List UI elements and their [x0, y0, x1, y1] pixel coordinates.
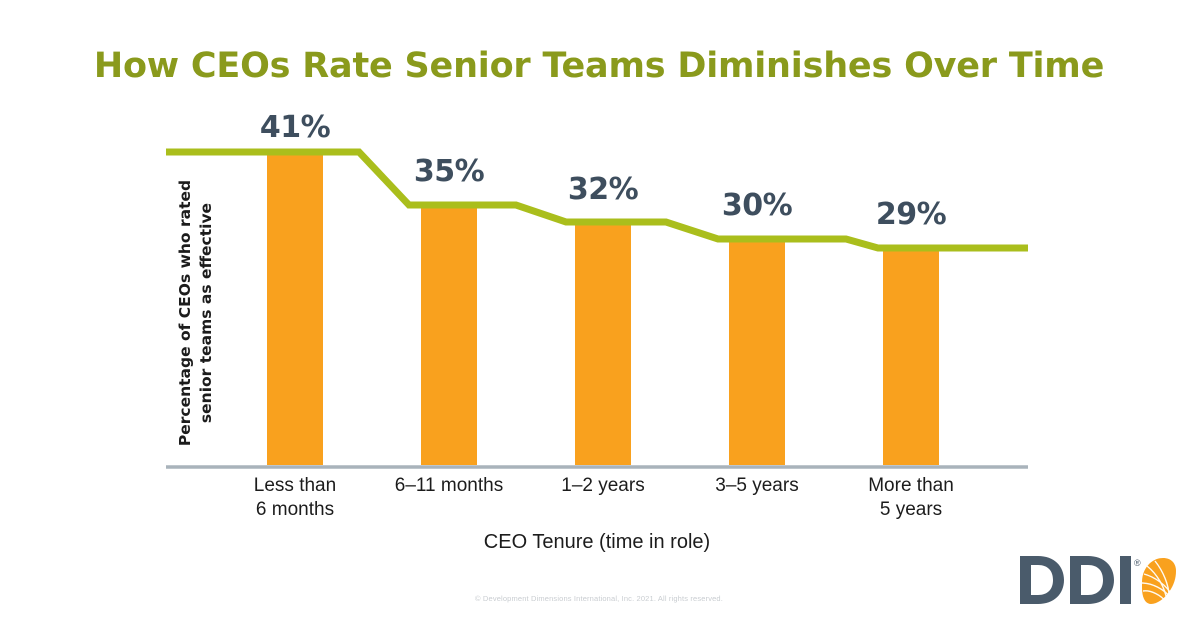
value-label-3-5-years: 30% [701, 188, 813, 223]
x-axis-title: CEO Tenure (time in role) [166, 531, 1028, 554]
value-label-more-than-5-years: 29% [855, 197, 967, 232]
x-tick-line-1: 6–11 months [369, 474, 529, 498]
value-label-less-than-6-months: 41% [239, 110, 351, 145]
chart-svg [166, 100, 1028, 470]
plot-area [166, 100, 1028, 470]
globe-icon [1142, 558, 1176, 604]
x-tick-line-2: 5 years [831, 498, 991, 522]
x-tick-label-more-than-5-years: More than 5 years [831, 474, 991, 522]
bar-less-than-6-months[interactable] [267, 152, 323, 465]
registered-mark-icon: ® [1134, 558, 1141, 568]
bar-3-5-years[interactable] [729, 239, 785, 465]
infographic-canvas: How CEOs Rate Senior Teams Diminishes Ov… [0, 0, 1198, 628]
x-tick-label-less-than-6-months: Less than 6 months [215, 474, 375, 522]
x-tick-line-1: 3–5 years [677, 474, 837, 498]
bar-6-11-months[interactable] [421, 205, 477, 465]
x-tick-line-2: 6 months [215, 498, 375, 522]
value-label-1-2-years: 32% [547, 172, 659, 207]
bar-more-than-5-years[interactable] [883, 248, 939, 465]
page-title: How CEOs Rate Senior Teams Diminishes Ov… [0, 46, 1198, 86]
x-tick-line-1: Less than [215, 474, 375, 498]
ddi-wordmark [1020, 556, 1131, 604]
x-tick-label-6-11-months: 6–11 months [369, 474, 529, 498]
value-label-6-11-months: 35% [393, 154, 505, 189]
x-tick-line-1: More than [831, 474, 991, 498]
x-tick-line-1: 1–2 years [523, 474, 683, 498]
x-tick-label-1-2-years: 1–2 years [523, 474, 683, 498]
x-tick-label-3-5-years: 3–5 years [677, 474, 837, 498]
ddi-logo: ® [1018, 552, 1178, 608]
bar-1-2-years[interactable] [575, 222, 631, 465]
ddi-logo-svg: ® [1018, 552, 1178, 608]
